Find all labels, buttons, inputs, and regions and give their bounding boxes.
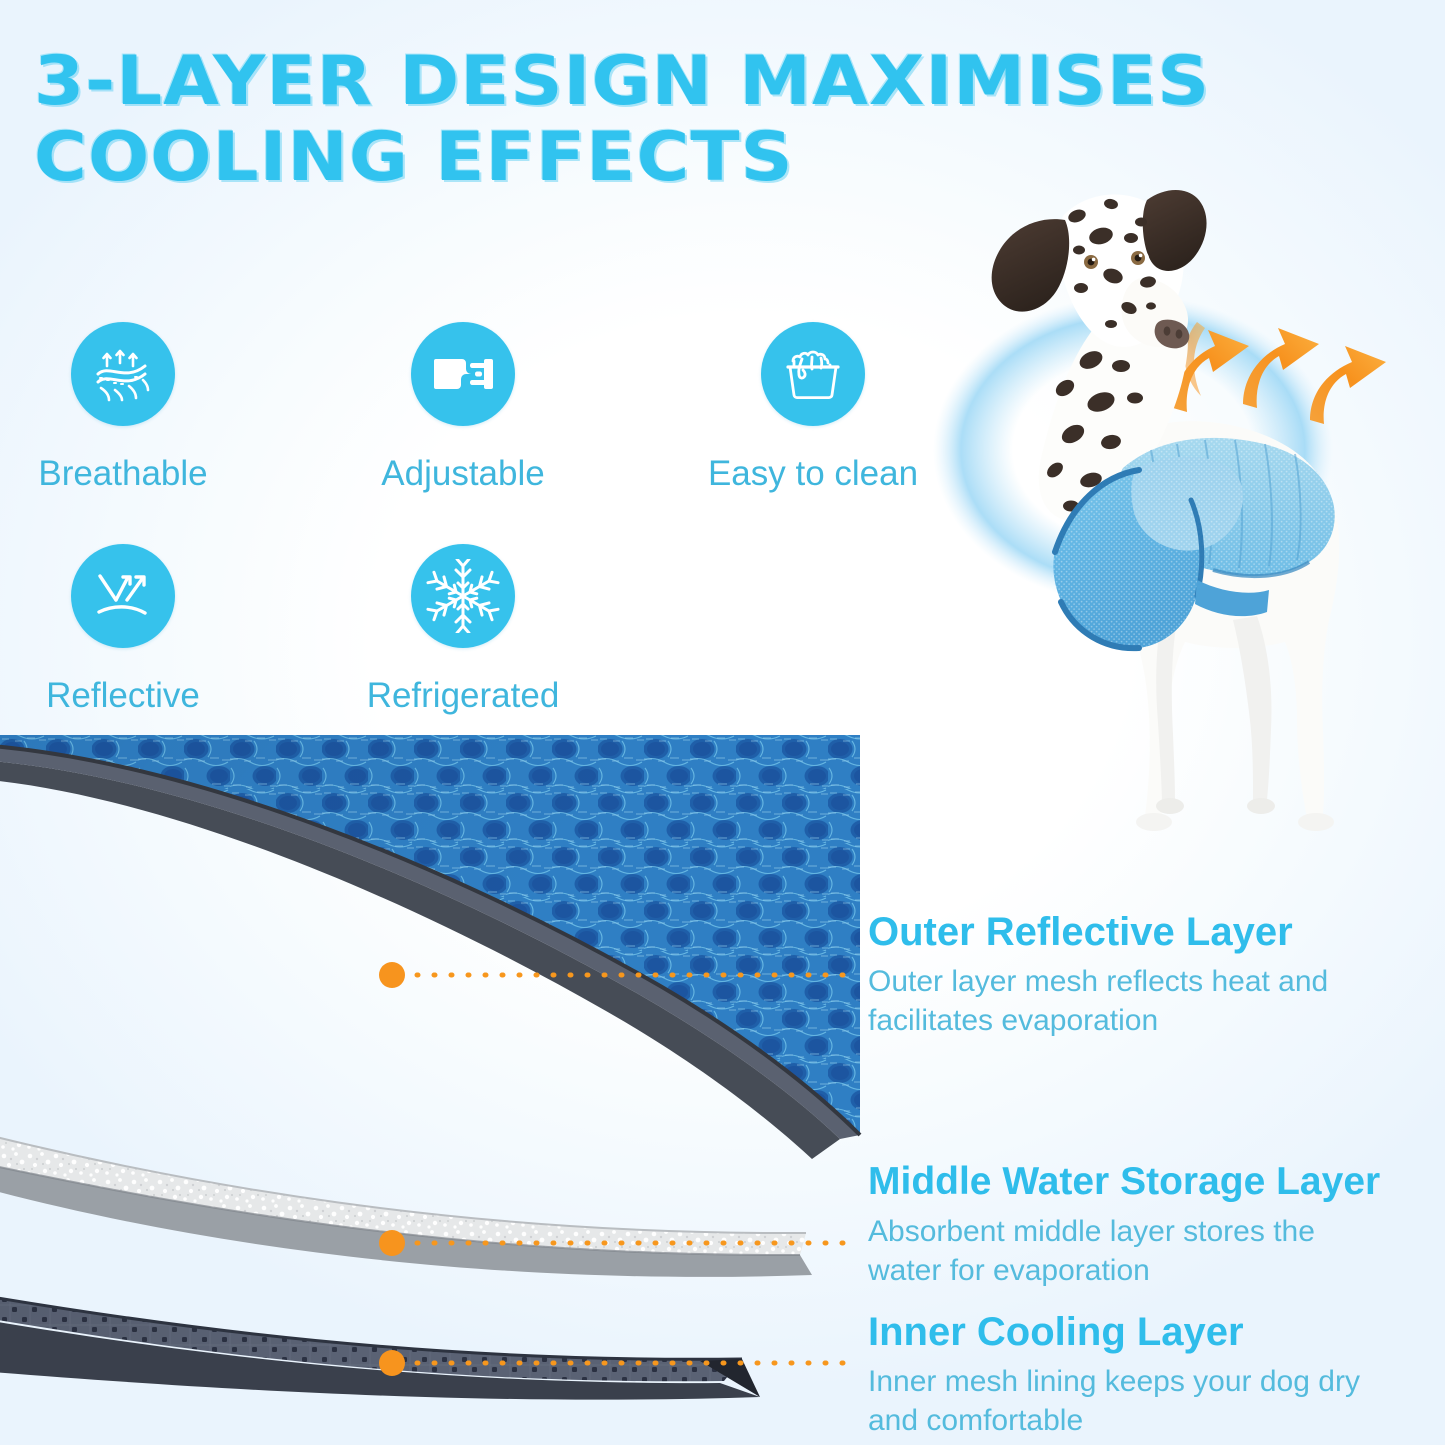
feature-label: Adjustable [313,454,613,494]
layer-body-line-1: Absorbent middle layer stores the [868,1212,1445,1251]
feature-label: Breathable [0,454,273,494]
layer-swatch-outer [0,735,860,1159]
feature-breathable: Breathable [0,322,273,494]
reflective-arrows-icon [71,544,175,648]
layer-body-line-2: facilitates evaporation [868,1001,1445,1040]
feature-label: Reflective [0,676,273,716]
layer-heading: Inner Cooling Layer [868,1308,1445,1356]
snowflake-icon [411,544,515,648]
layer-callout-middle: Middle Water Storage Layer Absorbent mid… [868,1158,1445,1290]
layer-body-line-2: and comfortable [868,1401,1445,1440]
layer-callout-inner: Inner Cooling Layer Inner mesh lining ke… [868,1308,1445,1440]
layer-body-line-2: water for evaporation [868,1251,1445,1290]
fabric-layer-stack [0,735,880,1445]
buckle-icon [411,322,515,426]
feature-reflective: Reflective [0,544,273,716]
layer-body-line-1: Inner mesh lining keeps your dog dry [868,1362,1445,1401]
feature-refrigerated: Refrigerated [313,544,613,716]
layer-body-line-1: Outer layer mesh reflects heat and [868,962,1445,1001]
feature-row-1: Breathable Adjustable [0,322,960,544]
layer-heading: Outer Reflective Layer [868,908,1445,956]
layer-heading: Middle Water Storage Layer [868,1158,1445,1206]
feature-list: Breathable Adjustable [0,322,960,766]
infographic-canvas: 3-LAYER DESIGN MAXIMISES COOLING EFFECTS [0,0,1445,1445]
layer-swatch-middle [0,1133,812,1277]
wash-basin-icon [761,322,865,426]
breathable-fabric-icon [71,322,175,426]
feature-adjustable: Adjustable [313,322,613,494]
product-photo [905,150,1445,880]
layer-callout-outer: Outer Reflective Layer Outer layer mesh … [868,908,1445,1040]
feature-row-2: Reflective [0,544,960,766]
feature-label: Refrigerated [313,676,613,716]
layer-swatch-inner [0,1295,760,1400]
title-line-1: 3-LAYER DESIGN MAXIMISES [34,44,1221,120]
